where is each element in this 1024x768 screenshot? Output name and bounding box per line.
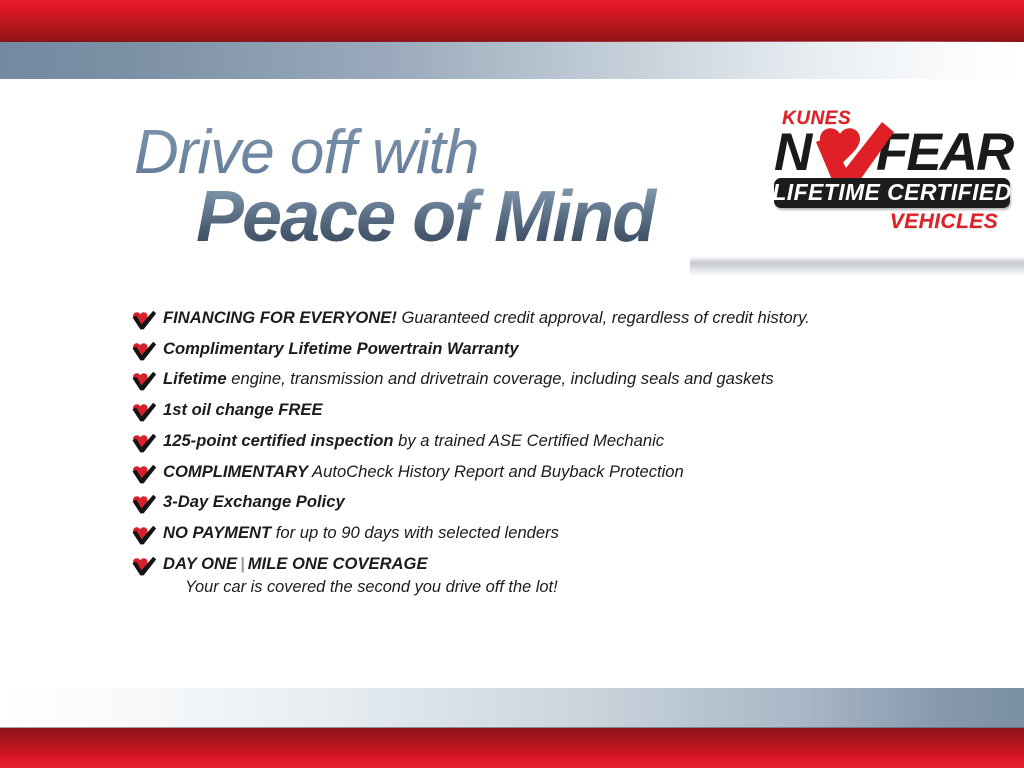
benefit-item: Lifetime engine, transmission and drivet…: [131, 369, 931, 389]
heart-check-bullet-icon: [131, 464, 157, 484]
logo-certified-text: LIFETIME CERTIFIED: [772, 179, 1011, 206]
benefit-item: COMPLIMENTARY AutoCheck History Report a…: [131, 462, 931, 482]
headline-line-2: Peace of Mind: [196, 180, 754, 256]
kunes-no-fear-logo: KUNES N FEAR LIFETIME CERTIFIED VEHICLES: [772, 108, 1012, 236]
bottom-banner-gray-stripe: [0, 688, 1024, 728]
logo-certified-bar: LIFETIME CERTIFIED: [774, 178, 1010, 208]
benefits-list: FINANCING FOR EVERYONE! Guaranteed credi…: [131, 308, 931, 608]
heart-check-bullet-icon: [131, 556, 157, 576]
benefit-item: 1st oil change FREE: [131, 400, 931, 420]
benefit-item: 3-Day Exchange Policy: [131, 492, 931, 512]
top-banner-gray-stripe: [0, 42, 1024, 79]
benefit-item: NO PAYMENT for up to 90 days with select…: [131, 523, 931, 543]
heart-check-bullet-icon: [131, 525, 157, 545]
benefit-title: 1st oil change FREE: [163, 400, 323, 419]
heart-check-bullet-icon: [131, 556, 157, 576]
headline-line-1: Drive off with: [134, 122, 754, 184]
heart-check-bullet-icon: [131, 310, 157, 330]
heart-check-bullet-icon: [131, 525, 157, 545]
benefit-item: Complimentary Lifetime Powertrain Warran…: [131, 339, 931, 359]
logo-wordmark: N FEAR: [772, 126, 1012, 182]
logo-word-fear: FEAR: [876, 126, 1012, 179]
benefit-title-secondary: MILE ONE COVERAGE: [248, 554, 428, 573]
heart-check-bullet-icon: [131, 402, 157, 422]
benefit-title: COMPLIMENTARY: [163, 462, 308, 481]
top-banner-red-stripe: [0, 0, 1024, 42]
heart-check-bullet-icon: [131, 371, 157, 391]
benefit-item: FINANCING FOR EVERYONE! Guaranteed credi…: [131, 308, 931, 328]
benefit-title: 3-Day Exchange Policy: [163, 492, 345, 511]
benefit-detail: by a trained ASE Certified Mechanic: [394, 431, 665, 450]
benefit-title: FINANCING FOR EVERYONE!: [163, 308, 397, 327]
heart-check-bullet-icon: [131, 402, 157, 422]
benefit-title: Lifetime: [163, 369, 227, 388]
header-section: Drive off with Peace of Mind KUNES N FEA…: [0, 80, 1024, 280]
heart-check-bullet-icon: [131, 494, 157, 514]
benefit-title: NO PAYMENT: [163, 523, 271, 542]
benefit-title: DAY ONE: [163, 554, 237, 573]
top-banner: [0, 0, 1024, 80]
heart-check-bullet-icon: [131, 371, 157, 391]
logo-vehicles-text: VEHICLES: [890, 210, 998, 234]
bottom-banner: [0, 688, 1024, 768]
header-divider-shadow: [690, 256, 1024, 276]
headline-block: Drive off with Peace of Mind: [134, 122, 754, 256]
benefit-title: Complimentary Lifetime Powertrain Warran…: [163, 339, 519, 358]
benefit-detail: engine, transmission and drivetrain cove…: [227, 369, 774, 388]
benefit-item: 125-point certified inspection by a trai…: [131, 431, 931, 451]
benefit-item: DAY ONE|MILE ONE COVERAGEYour car is cov…: [131, 554, 931, 597]
benefit-detail: for up to 90 days with selected lenders: [271, 523, 559, 542]
heart-check-bullet-icon: [131, 433, 157, 453]
benefit-detail: AutoCheck History Report and Buyback Pro…: [308, 462, 684, 481]
logo-letter-n: N: [774, 126, 811, 179]
heart-check-bullet-icon: [131, 341, 157, 361]
benefit-subtext: Your car is covered the second you drive…: [185, 577, 931, 597]
heart-check-bullet-icon: [131, 433, 157, 453]
heart-check-bullet-icon: [131, 341, 157, 361]
benefit-detail: Guaranteed credit approval, regardless o…: [397, 308, 810, 327]
bottom-banner-red-stripe: [0, 728, 1024, 768]
benefit-title: 125-point certified inspection: [163, 431, 394, 450]
heart-check-bullet-icon: [131, 494, 157, 514]
heart-check-bullet-icon: [131, 464, 157, 484]
heart-check-bullet-icon: [131, 310, 157, 330]
benefit-separator: |: [237, 554, 248, 573]
